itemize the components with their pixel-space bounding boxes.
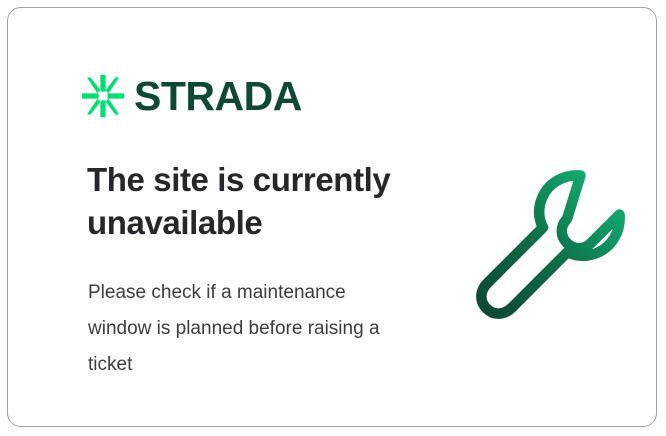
page-title: The site is currently unavailable — [87, 158, 427, 244]
brand-lockup: STRADA — [81, 74, 302, 118]
strada-asterisk-icon — [81, 74, 125, 118]
status-card: STRADA The site is currently unavailable… — [7, 7, 657, 427]
error-page: STRADA The site is currently unavailable… — [0, 0, 666, 436]
brand-wordmark: STRADA — [134, 76, 302, 117]
page-description: Please check if a maintenance window is … — [88, 275, 398, 383]
